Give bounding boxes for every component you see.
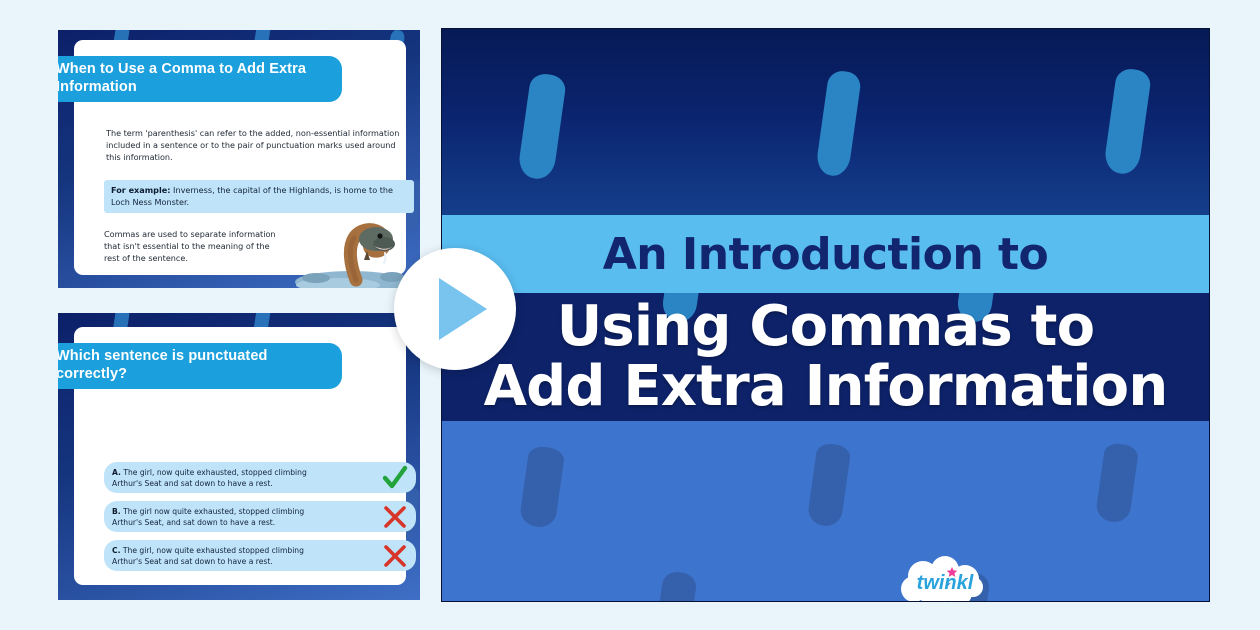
answer-option-a[interactable]: A. The girl, now quite exhausted, stoppe…	[104, 462, 416, 493]
answer-option-b[interactable]: B. The girl now quite exhausted, stopped…	[104, 501, 416, 532]
play-triangle-icon	[439, 278, 487, 340]
title-line-3: Add Extra Information	[442, 357, 1209, 417]
twinkl-logo: twinkl	[899, 556, 991, 602]
slide-1-body-text: The term 'parenthesis' can refer to the …	[106, 128, 412, 164]
main-title-panel[interactable]: An Introduction to Using Commas to Add E…	[441, 28, 1210, 602]
option-letter: B.	[112, 507, 121, 516]
twinkl-wordmark: twinkl	[917, 572, 974, 594]
option-text-line2: Arthur's Seat and sat down to have a res…	[112, 478, 370, 489]
title-line-2: Using Commas to	[442, 297, 1209, 357]
slide-thumbnail-2[interactable]: A. The girl, now quite exhausted, stoppe…	[58, 313, 420, 600]
answer-options-list: A. The girl, now quite exhausted, stoppe…	[104, 462, 416, 579]
slide-1-note-text: Commas are used to separate information …	[104, 228, 279, 264]
loch-ness-monster-icon	[292, 222, 410, 288]
cross-icon	[382, 504, 408, 530]
title-main: Using Commas to Add Extra Information	[442, 297, 1209, 418]
example-label: For example:	[111, 185, 170, 195]
play-button[interactable]	[394, 248, 516, 370]
option-text-line2: Arthur's Seat and sat down to have a res…	[112, 556, 370, 567]
answer-option-c[interactable]: C. The girl, now quite exhausted stopped…	[104, 540, 416, 571]
option-text-line1: A. The girl, now quite exhausted, stoppe…	[112, 467, 370, 478]
slide-2-heading: Which sentence is punctuated correctly?	[58, 343, 342, 389]
slide-1-heading: When to Use a Comma to Add Extra Informa…	[58, 56, 342, 102]
cross-icon	[382, 543, 408, 569]
option-text-line1: C. The girl, now quite exhausted stopped…	[112, 545, 370, 556]
tick-icon	[382, 465, 408, 491]
slide-thumbnail-1[interactable]: The term 'parenthesis' can refer to the …	[58, 30, 420, 288]
title-line-1: An Introduction to	[442, 215, 1209, 293]
option-text-line1: B. The girl now quite exhausted, stopped…	[112, 506, 370, 517]
option-letter: A.	[112, 468, 121, 477]
page-root: The term 'parenthesis' can refer to the …	[0, 0, 1260, 630]
slide-1-example-box: For example: Inverness, the capital of t…	[104, 180, 414, 213]
option-text-line2: Arthur's Seat, and sat down to have a re…	[112, 517, 370, 528]
